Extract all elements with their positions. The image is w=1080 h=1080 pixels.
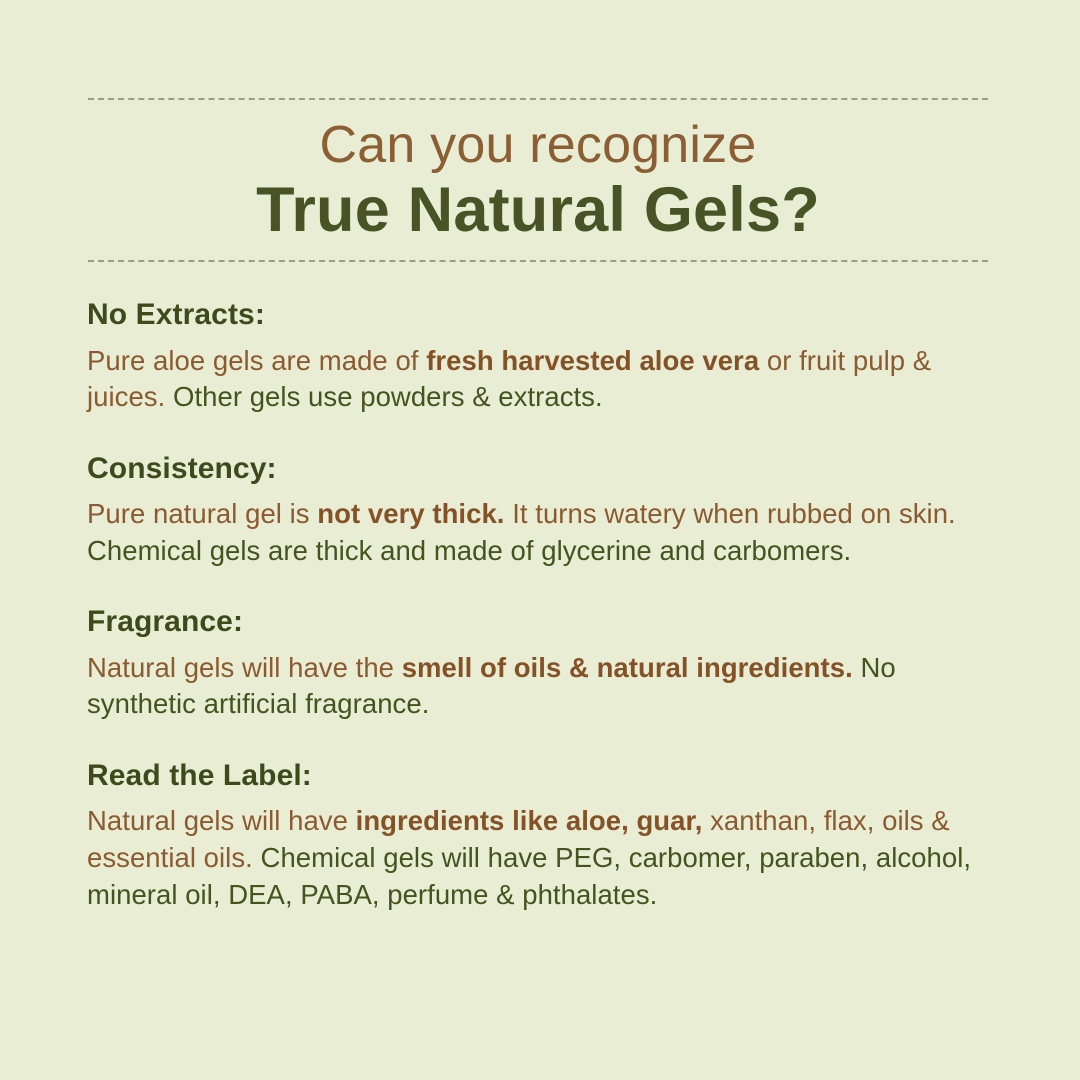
section-heading: Fragrance: [87, 605, 997, 640]
text-run-brown-bold: ingredients like aloe, guar, [356, 805, 703, 836]
section: Consistency:Pure natural gel is not very… [87, 452, 997, 570]
text-run-brown-bold: fresh harvested aloe vera [426, 345, 759, 376]
text-run-brown-bold: smell of oils & natural ingredients. [402, 652, 853, 683]
section-body: Natural gels will have the smell of oils… [87, 650, 997, 723]
title-line-1: Can you recognize [88, 118, 988, 173]
section-heading: No Extracts: [87, 298, 997, 333]
section: Read the Label:Natural gels will have in… [87, 759, 997, 913]
section-heading: Read the Label: [87, 759, 997, 794]
text-run-brown: Pure natural gel is [87, 498, 317, 529]
section-heading: Consistency: [87, 452, 997, 487]
sections-list: No Extracts:Pure aloe gels are made of f… [87, 298, 997, 913]
title-line-2: True Natural Gels? [88, 175, 988, 246]
text-run-green: Chemical gels are thick and made of glyc… [87, 535, 851, 566]
section: No Extracts:Pure aloe gels are made of f… [87, 298, 997, 416]
text-run-brown: Natural gels will have [87, 805, 356, 836]
section: Fragrance:Natural gels will have the sme… [87, 605, 997, 723]
text-run-brown: Pure aloe gels are made of [87, 345, 426, 376]
poster-canvas: Can you recognize True Natural Gels? No … [0, 0, 1080, 1080]
section-body: Pure aloe gels are made of fresh harvest… [87, 343, 997, 416]
section-body: Pure natural gel is not very thick. It t… [87, 496, 997, 569]
section-body: Natural gels will have ingredients like … [87, 803, 997, 913]
text-run-brown-bold: not very thick. [317, 498, 504, 529]
text-run-brown: Natural gels will have the [87, 652, 402, 683]
text-run-green: Other gels use powders & extracts. [173, 381, 603, 412]
header-block: Can you recognize True Natural Gels? [88, 98, 988, 262]
text-run-brown: It turns watery when rubbed on skin. [505, 498, 956, 529]
